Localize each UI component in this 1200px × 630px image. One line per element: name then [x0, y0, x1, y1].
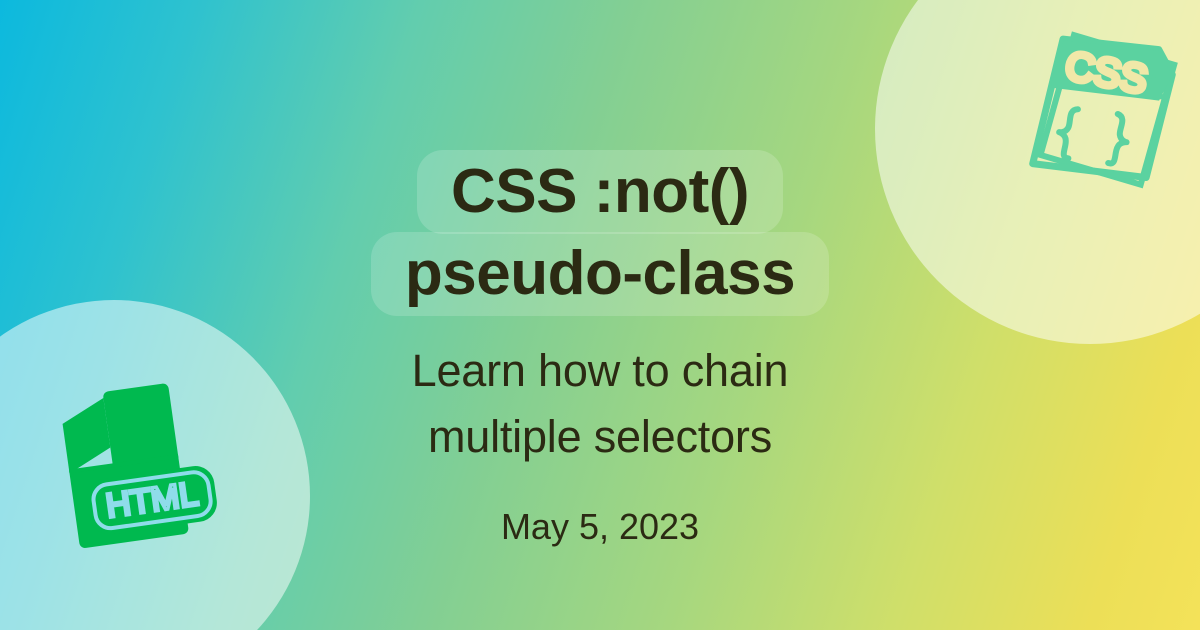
- title-line-2: pseudo-class: [371, 232, 829, 316]
- subtitle-line-1: Learn how to chain: [412, 338, 789, 404]
- card-content: CSS :not() pseudo-class Learn how to cha…: [0, 0, 1200, 630]
- title-line-1: CSS :not(): [417, 150, 783, 234]
- social-share-card: HTML CSS CSS :not(): [0, 0, 1200, 630]
- subtitle: Learn how to chain multiple selectors: [412, 338, 789, 470]
- page-title: CSS :not() pseudo-class: [371, 150, 829, 316]
- publish-date: May 5, 2023: [501, 506, 699, 548]
- subtitle-line-2: multiple selectors: [412, 404, 789, 470]
